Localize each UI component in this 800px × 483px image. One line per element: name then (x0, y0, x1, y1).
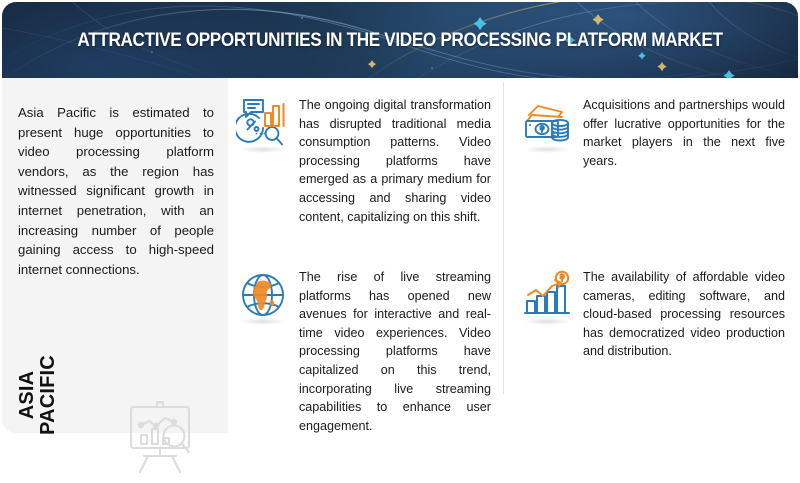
icon-shadow (240, 318, 286, 325)
content-block-text: Acquisitions and partnerships would offe… (583, 96, 785, 170)
region-summary-text: Asia Pacific is estimated to present hug… (18, 103, 214, 279)
bar-chart-growth-dollar-icon (520, 268, 574, 322)
icon-shadow (524, 146, 570, 153)
globe-world-icon (236, 268, 290, 322)
column-divider (503, 82, 504, 394)
money-cash-coins-icon (520, 96, 574, 150)
content-block: The rise of live streaming platforms has… (236, 268, 494, 435)
market-research-analytics-icon (236, 96, 290, 150)
content-block: Acquisitions and partnerships would offe… (520, 96, 788, 170)
region-label: ASIA PACIFIC (17, 340, 59, 450)
content-block-text: The ongoing digital transformation has d… (299, 96, 491, 226)
content-area: The ongoing digital transformation has d… (228, 78, 798, 433)
page-title: ATTRACTIVE OPPORTUNITIES IN THE VIDEO PR… (50, 2, 750, 78)
infographic-slide: ATTRACTIVE OPPORTUNITIES IN THE VIDEO PR… (0, 0, 800, 437)
content-block: The ongoing digital transformation has d… (236, 96, 494, 226)
header-banner: ATTRACTIVE OPPORTUNITIES IN THE VIDEO PR… (2, 2, 798, 78)
left-summary-panel: Asia Pacific is estimated to present hug… (2, 78, 228, 433)
presentation-chart-search-icon (114, 398, 206, 478)
icon-shadow (524, 318, 570, 325)
icon-shadow (240, 146, 286, 153)
content-block: The availability of affordable video cam… (520, 268, 788, 361)
content-block-text: The availability of affordable video cam… (583, 268, 785, 361)
content-block-text: The rise of live streaming platforms has… (299, 268, 491, 435)
